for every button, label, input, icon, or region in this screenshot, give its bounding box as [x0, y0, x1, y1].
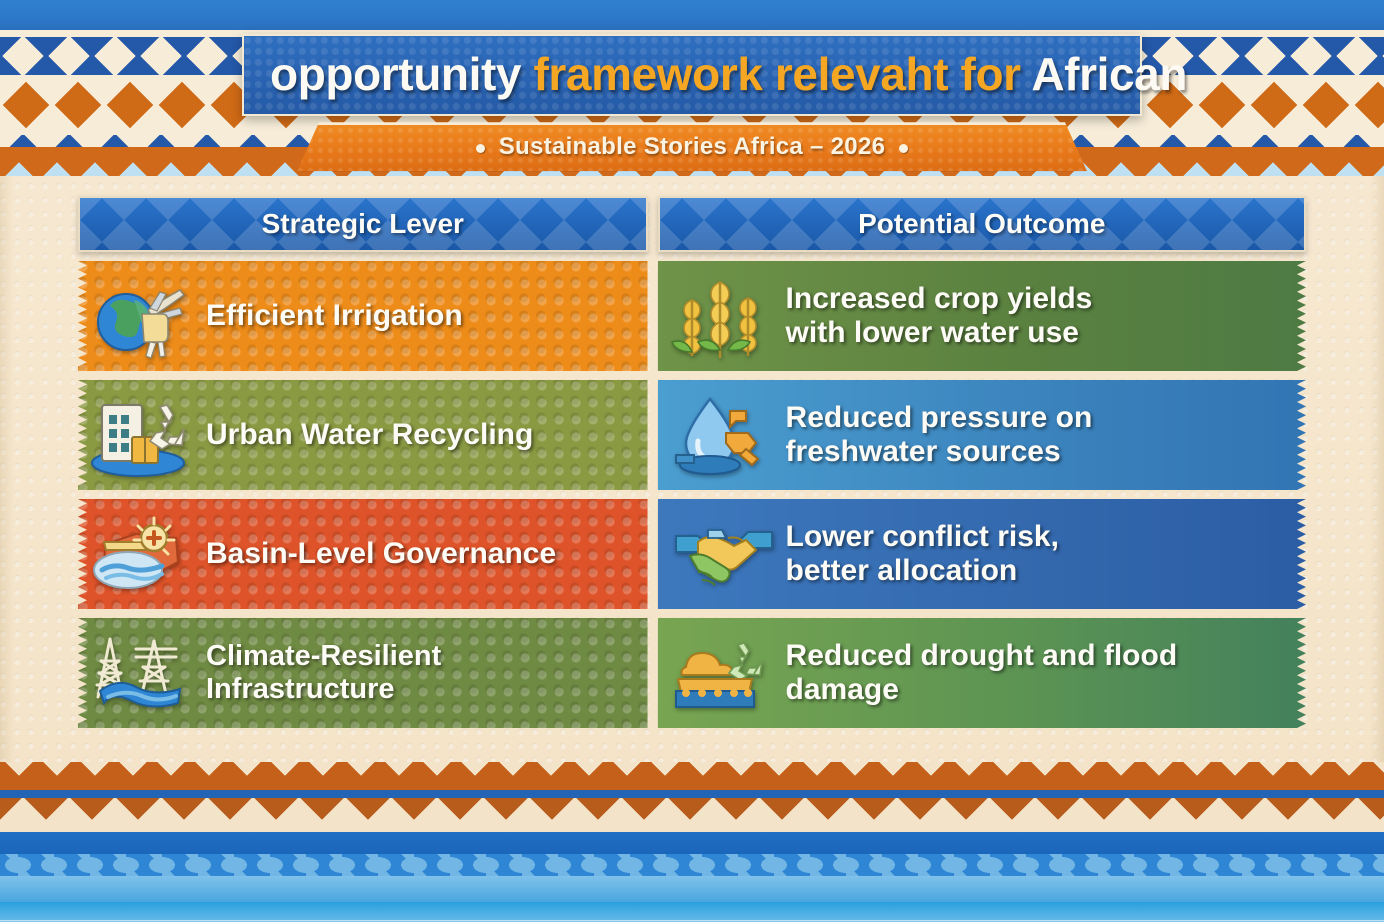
cell-label: Lower conflict risk,better allocation: [786, 520, 1059, 588]
table-row[interactable]: Increased crop yieldswith lower water us…: [658, 261, 1306, 371]
bottom-strip-gradient-2: [0, 902, 1384, 920]
column-strategic-lever: Strategic Lever: [78, 196, 648, 728]
column-header-label: Strategic Lever: [262, 208, 464, 240]
subtitle-text: Sustainable Stories Africa – 2026: [499, 133, 886, 160]
bottom-strip-gradient-1: [0, 876, 1384, 902]
globe-sprinkler-icon: [88, 270, 200, 362]
title-bar: opportunity framework relevaht for Afric…: [242, 34, 1142, 116]
bottom-border-pattern: [0, 762, 1384, 922]
table-row[interactable]: Reduced drought and flood damage: [658, 618, 1306, 728]
cell-label-line1: Climate-Resilient: [206, 640, 441, 672]
table-row[interactable]: Basin-Level Governance: [78, 499, 648, 609]
bottom-strip-eye-motif: [0, 854, 1384, 876]
cell-label: Reduced pressure onfreshwater sources: [786, 401, 1093, 469]
cell-label-line1: Increased crop yields: [786, 282, 1093, 315]
cloud-recycle-dam-icon: [668, 627, 780, 719]
left-edge-shade: [0, 176, 14, 762]
handshake-icon: [668, 508, 780, 600]
cell-label-line1: Reduced pressure on: [786, 401, 1093, 434]
table-row[interactable]: Climate-ResilientInfrastructure: [78, 618, 648, 728]
cell-label-line2: with lower water use: [786, 316, 1079, 349]
building-recycle-icon: [88, 389, 200, 481]
page-title: opportunity framework relevaht for Afric…: [270, 50, 1114, 98]
cell-label-line1: Lower conflict risk,: [786, 520, 1059, 553]
table-row[interactable]: Efficient Irrigation: [78, 261, 648, 371]
wheat-stalks-icon: [668, 270, 780, 362]
title-banner: opportunity framework relevaht for Afric…: [242, 34, 1142, 171]
column-header-label: Potential Outcome: [858, 208, 1105, 240]
bottom-strip-blue-line: [0, 790, 1384, 798]
right-edge-shade: [1370, 176, 1384, 762]
cell-label: Increased crop yieldswith lower water us…: [786, 282, 1093, 350]
table-row[interactable]: Reduced pressure onfreshwater sources: [658, 380, 1306, 490]
water-drop-tap-icon: [668, 389, 780, 481]
bullet-dot-left-icon: [476, 144, 485, 153]
bottom-strip-orange-sawtooth: [0, 762, 1384, 790]
bottom-strip-deep-blue: [0, 832, 1384, 854]
column-header-strategic-lever: Strategic Lever: [78, 196, 648, 252]
cell-label: Climate-ResilientInfrastructure: [206, 640, 441, 706]
cell-label: Basin-Level Governance: [206, 537, 556, 571]
power-pylon-river-icon: [88, 627, 200, 719]
cell-label: Reduced drought and flood damage: [786, 639, 1292, 707]
bullet-dot-right-icon: [899, 144, 908, 153]
comparison-table: Strategic Lever: [78, 196, 1306, 728]
title-text-accent: framework relevaht for: [533, 48, 1020, 100]
subtitle-ribbon: Sustainable Stories Africa – 2026: [297, 122, 1087, 171]
cell-label-line2: Infrastructure: [206, 673, 395, 705]
title-text-primary: opportunity: [270, 48, 533, 100]
cell-label-line2: freshwater sources: [786, 435, 1061, 468]
column-header-potential-outcome: Potential Outcome: [658, 196, 1306, 252]
table-row[interactable]: Lower conflict risk,better allocation: [658, 499, 1306, 609]
title-text-suffix: African: [1021, 48, 1187, 100]
cell-label-line2: better allocation: [786, 554, 1018, 587]
cell-label: Efficient Irrigation: [206, 299, 463, 333]
infographic-poster: opportunity framework relevaht for Afric…: [0, 0, 1384, 922]
top-sky-strip: [0, 0, 1384, 30]
basin-sun-icon: [88, 508, 200, 600]
column-potential-outcome: Potential Outcome: [658, 196, 1306, 728]
table-row[interactable]: Urban Water Recycling: [78, 380, 648, 490]
bottom-strip-brown-triangles: [0, 798, 1384, 832]
cell-label: Urban Water Recycling: [206, 418, 533, 452]
